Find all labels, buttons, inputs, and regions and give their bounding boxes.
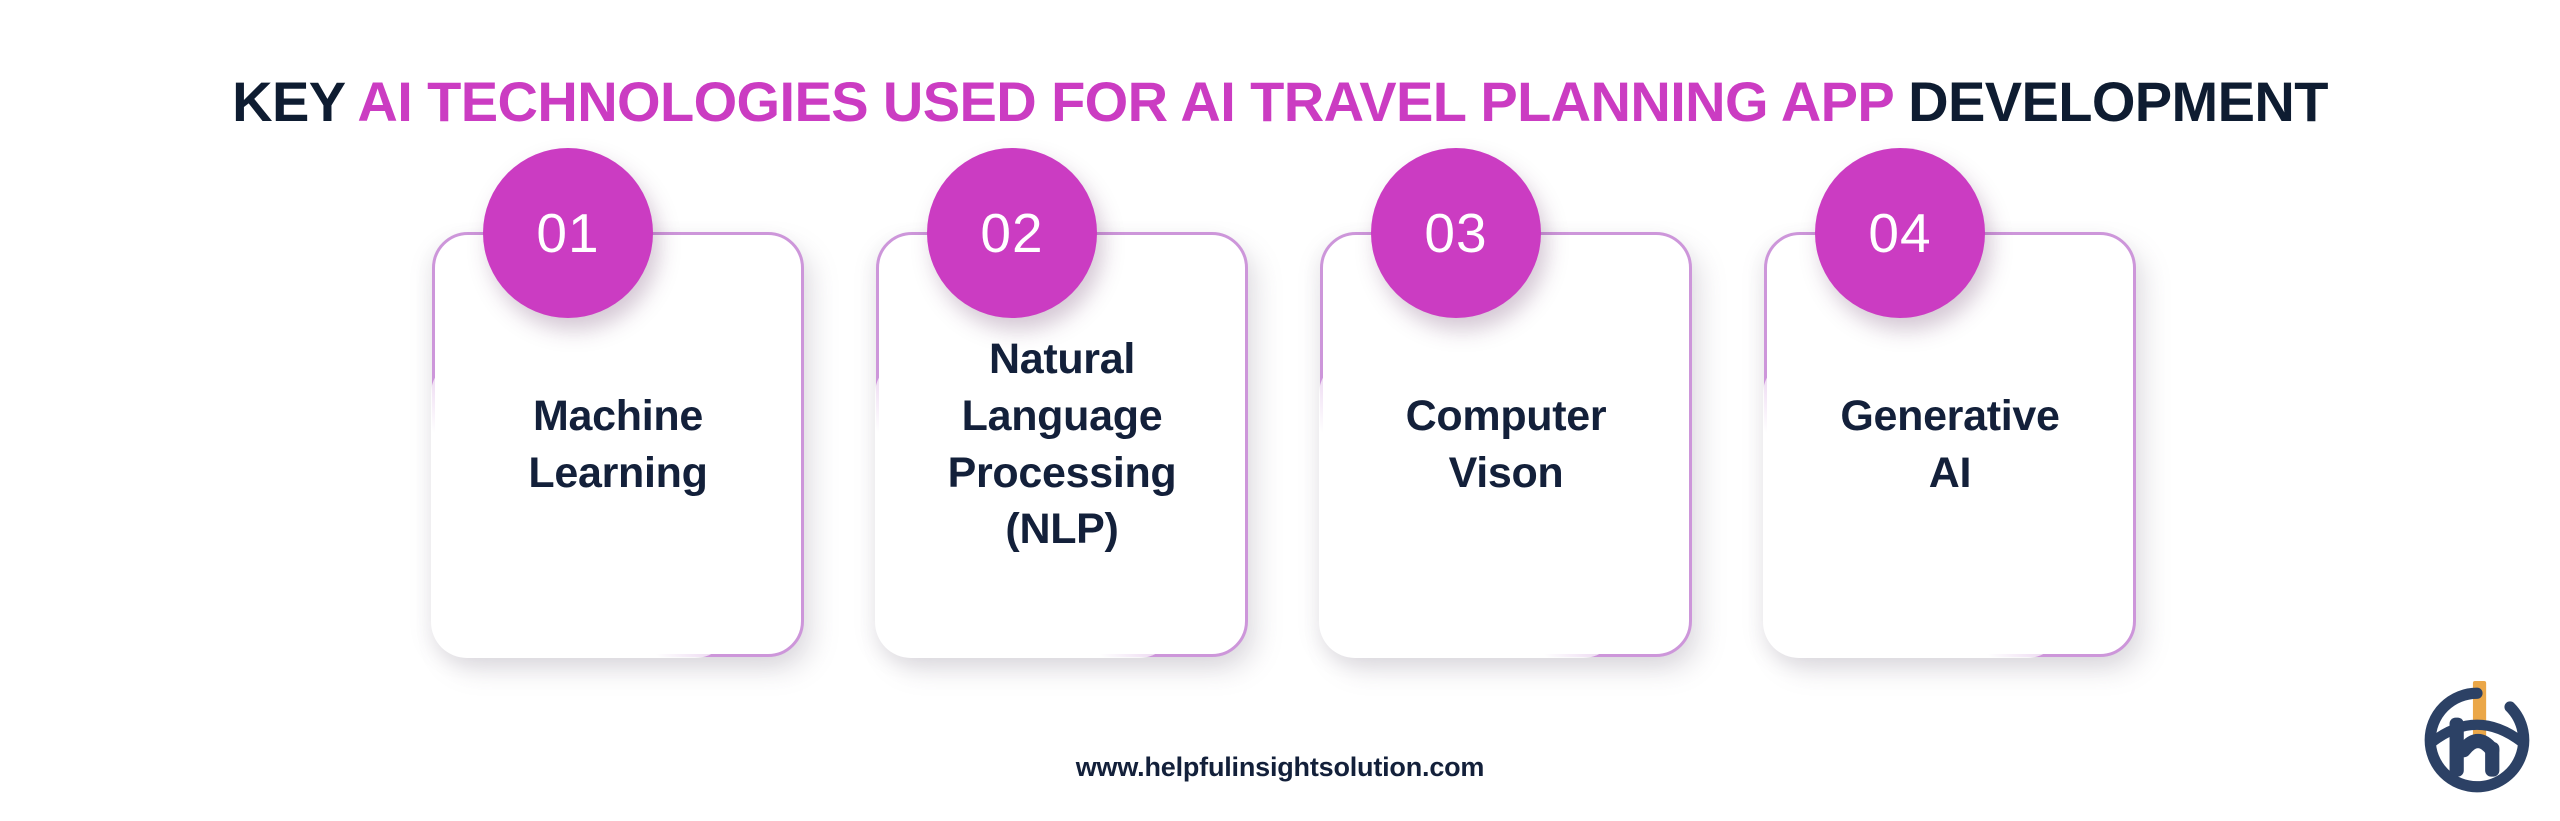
card-number: 04 xyxy=(1868,206,1931,261)
technology-card-3[interactable]: Computer Vison 03 xyxy=(1320,232,1692,657)
brand-logo-icon xyxy=(2416,679,2538,801)
card-number: 03 xyxy=(1424,206,1487,261)
title-segment-key: KEY xyxy=(232,70,357,133)
card-number: 02 xyxy=(980,206,1043,261)
card-number-badge: 03 xyxy=(1371,148,1541,318)
technology-card-1[interactable]: Machine Learning 01 xyxy=(432,232,804,657)
footer-website-url[interactable]: www.helpfulinsightsolution.com xyxy=(0,752,2560,783)
card-number-badge: 02 xyxy=(927,148,1097,318)
card-number: 01 xyxy=(536,206,599,261)
title-segment-accent: AI TECHNOLOGIES USED FOR AI TRAVEL PLANN… xyxy=(357,70,1908,133)
page-title: KEY AI TECHNOLOGIES USED FOR AI TRAVEL P… xyxy=(0,71,2560,133)
infographic-poster: KEY AI TECHNOLOGIES USED FOR AI TRAVEL P… xyxy=(0,0,2560,821)
card-number-badge: 04 xyxy=(1815,148,1985,318)
card-number-badge: 01 xyxy=(483,148,653,318)
technology-card-row: Machine Learning 01 Natural Language Pro… xyxy=(0,232,2560,662)
title-segment-development: DEVELOPMENT xyxy=(1908,70,2328,133)
technology-card-2[interactable]: Natural Language Processing (NLP) 02 xyxy=(876,232,1248,657)
technology-card-4[interactable]: Generative AI 04 xyxy=(1764,232,2136,657)
